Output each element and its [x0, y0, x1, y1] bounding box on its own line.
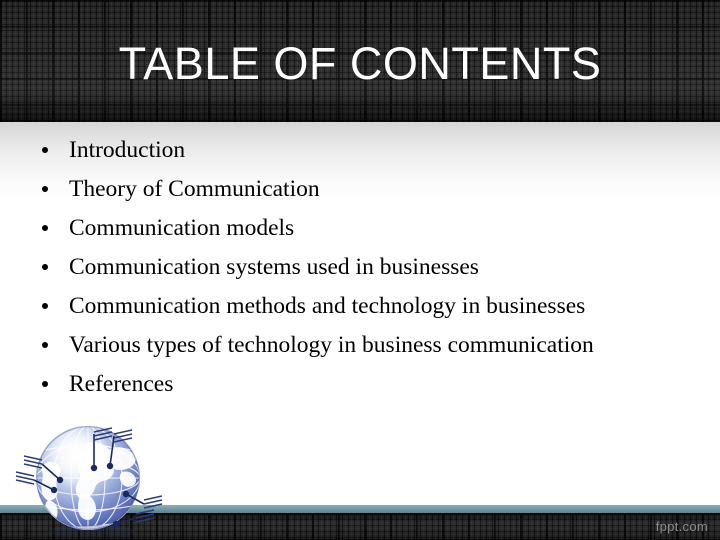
bullet-point-icon — [42, 147, 48, 153]
table-of-contents-list: Introduction Theory of Communication Com… — [0, 131, 720, 404]
slide-header-banner: TABLE OF CONTENTS — [0, 0, 720, 122]
list-item-label: Communication models — [69, 215, 294, 241]
watermark-label: fppt.com — [656, 519, 708, 534]
bullet-point-icon — [42, 342, 48, 348]
list-item: Various types of technology in business … — [0, 326, 720, 365]
list-item: Communication systems used in businesses — [0, 248, 720, 287]
list-item-label: Introduction — [69, 137, 185, 163]
bullet-point-icon — [42, 303, 48, 309]
list-item: References — [0, 365, 720, 404]
slide-title: TABLE OF CONTENTS — [0, 38, 720, 90]
bullet-point-icon — [42, 186, 48, 192]
list-item: Communication methods and technology in … — [0, 287, 720, 326]
list-item: Introduction — [0, 131, 720, 170]
list-item: Theory of Communication — [0, 170, 720, 209]
list-item: Communication models — [0, 209, 720, 248]
list-item-label: Theory of Communication — [69, 176, 320, 202]
bullet-point-icon — [42, 381, 48, 387]
list-item-label: Communication systems used in businesses — [69, 254, 479, 280]
list-item-label: Communication methods and technology in … — [69, 293, 585, 319]
bullet-point-icon — [42, 225, 48, 231]
presentation-slide: TABLE OF CONTENTS Introduction Theory of… — [0, 0, 720, 540]
bullet-point-icon — [42, 264, 48, 270]
globe-icon — [8, 406, 176, 540]
list-item-label: Various types of technology in business … — [69, 332, 594, 358]
list-item-label: References — [69, 371, 173, 397]
